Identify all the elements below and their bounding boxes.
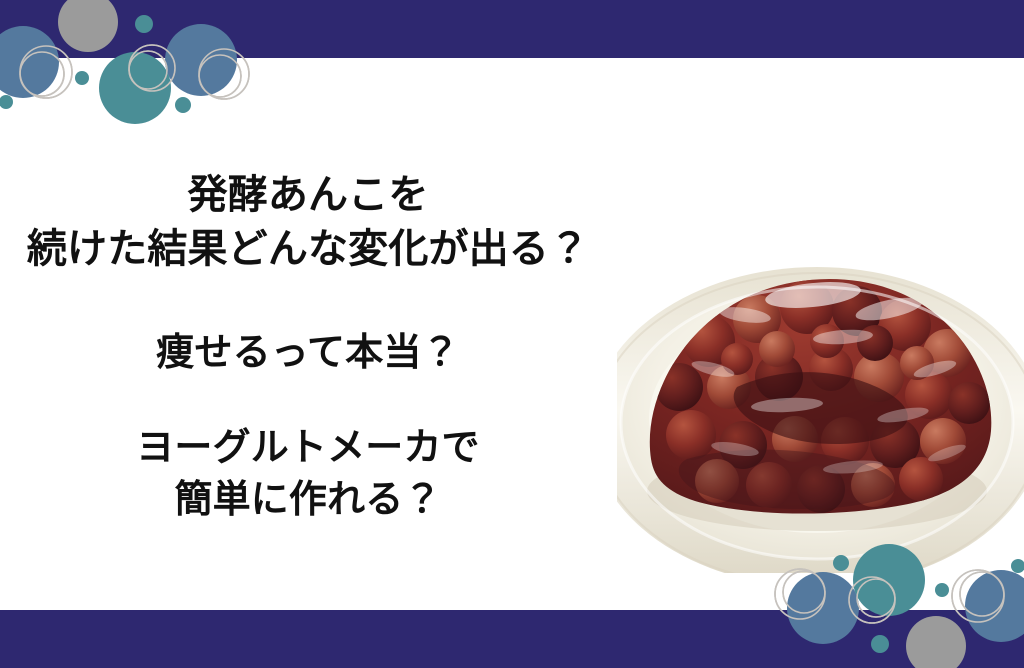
question-yogurtmaker-block: ヨーグルトメーカで 簡単に作れる？ xyxy=(0,422,616,526)
headline-block: 発酵あんこを 続けた結果どんな変化が出る？ xyxy=(0,168,616,276)
fermented-anko-photo xyxy=(617,191,1024,573)
headline-line-1: 発酵あんこを xyxy=(0,168,616,222)
question-weight-block: 痩せるって本当？ xyxy=(0,328,616,378)
headline-line-2: 続けた結果どんな変化が出る？ xyxy=(0,222,616,276)
slide-canvas: 発酵あんこを 続けた結果どんな変化が出る？ 痩せるって本当？ ヨーグルトメーカで… xyxy=(0,0,1024,668)
question-yogurtmaker-line-1: ヨーグルトメーカで xyxy=(0,422,616,474)
question-weight-line-1: 痩せるって本当？ xyxy=(0,328,616,378)
top-navy-band xyxy=(0,0,1024,58)
question-yogurtmaker-line-2: 簡単に作れる？ xyxy=(0,474,616,526)
headline-copy: 発酵あんこを 続けた結果どんな変化が出る？ 痩せるって本当？ ヨーグルトメーカで… xyxy=(0,168,616,526)
bottom-navy-band xyxy=(0,610,1024,668)
